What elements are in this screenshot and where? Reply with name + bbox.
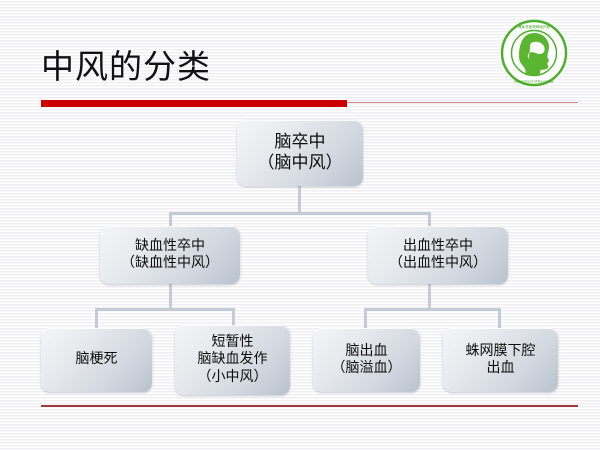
connector-to-ischemic	[169, 212, 172, 226]
connector-to-ich	[364, 308, 367, 328]
svg-text:海军总医院神经内科: 海军总医院神经内科	[518, 24, 551, 29]
slide-canvas: 中风的分类 海军总医院神经内科 Department of Neurology …	[0, 0, 600, 450]
connector-hemorrhagic-stem	[428, 284, 431, 310]
diagram-node-stroke-root[interactable]: 脑卒中 （脑中风）	[237, 120, 363, 186]
connector-to-tia	[232, 308, 235, 325]
title-accent-bar	[41, 100, 347, 107]
connector-level2-bus	[169, 212, 431, 215]
diagram-node-subarachnoid-hemorrhage[interactable]: 蛛网膜下腔 出血	[443, 328, 558, 392]
diagram-node-hemorrhagic-stroke[interactable]: 出血性卒中 （出血性中风）	[368, 226, 508, 284]
hospital-neurology-logo-icon: 海军总医院神经内科 Department of Neurology	[500, 19, 568, 87]
svg-text:Department of Neurology: Department of Neurology	[514, 79, 554, 83]
diagram-node-transient-ischemic-attack[interactable]: 短暂性 脑缺血发作 （小中风）	[175, 325, 290, 395]
connector-to-hemorrhagic	[428, 212, 431, 226]
connector-to-sah	[498, 308, 501, 328]
connector-root-stem	[298, 186, 301, 214]
diagram-node-ischemic-stroke[interactable]: 缺血性卒中 （缺血性中风）	[100, 226, 240, 284]
connector-ischemic-bus	[95, 308, 235, 311]
diagram-node-intracerebral-hemorrhage[interactable]: 脑出血 （脑溢血）	[313, 328, 420, 392]
connector-ischemic-stem	[169, 284, 172, 310]
footer-divider	[41, 405, 578, 407]
connector-hemorrhagic-bus	[364, 308, 501, 311]
diagram-node-cerebral-infarction[interactable]: 脑梗死	[41, 328, 152, 392]
title-accent-line	[347, 102, 578, 103]
page-title: 中风的分类	[41, 45, 211, 89]
connector-to-infarct	[95, 308, 98, 328]
